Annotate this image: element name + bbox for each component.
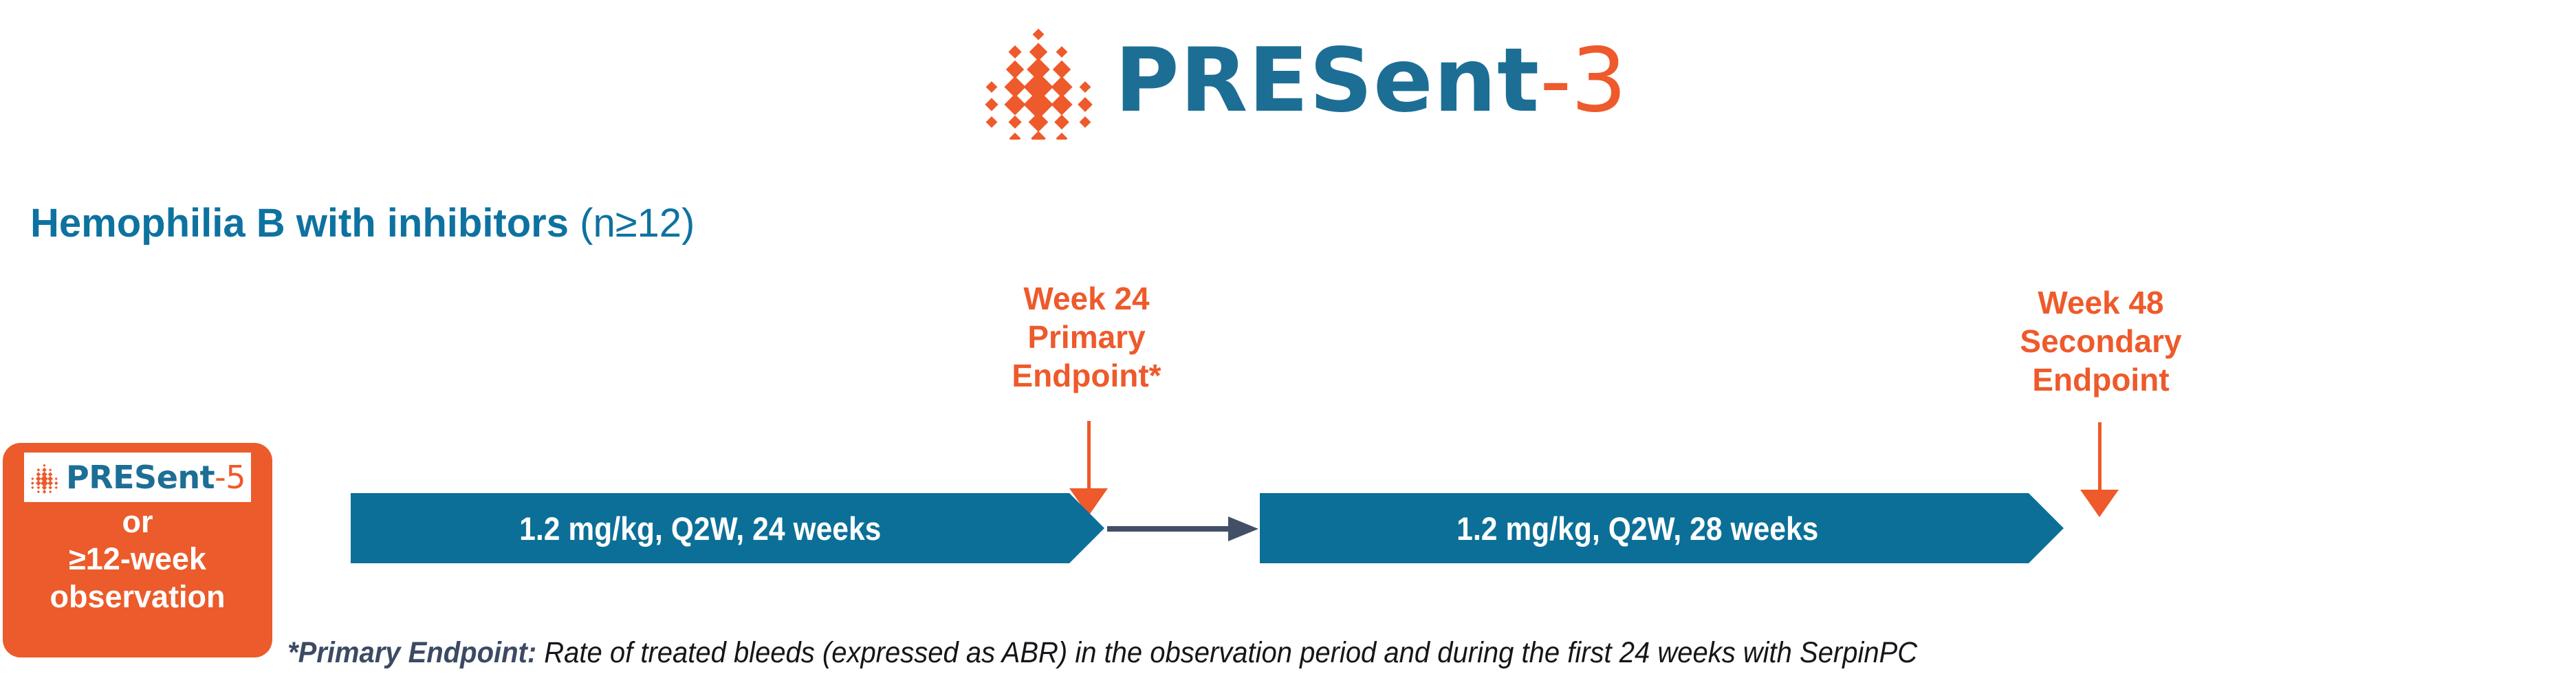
logo-word-text: PRESent [1115,30,1540,132]
footnote-label: *Primary Endpoint: [287,636,536,669]
primary-endpoint-type: Primary [949,318,1224,356]
chevron-tip-icon [2029,493,2064,563]
cohort-count: (n≥12) [580,201,695,246]
treatment-period-2-label: 1.2 mg/kg, Q2W, 28 weeks [1456,510,1818,547]
present-5-word-text: PRESent [66,459,215,496]
secondary-endpoint-annotation: Week 48 Secondary Endpoint [1963,283,2238,399]
diamond-dot-grid-icon [30,458,59,497]
cohort-title: Hemophilia B with inhibitors [30,201,569,246]
treatment-period-1-label: 1.2 mg/kg, Q2W, 24 weeks [519,510,881,547]
footnote-body: Rate of treated bleeds (expressed as ABR… [536,636,1917,669]
secondary-endpoint-name: Endpoint [1963,360,2238,399]
primary-endpoint-name: Endpoint* [949,356,1224,395]
period-connector-right-arrow-icon [1107,523,1258,535]
logo-wordmark: PRESent-3 [1115,37,1626,125]
treatment-period-1-bar: 1.2 mg/kg, Q2W, 24 weeks [351,493,1069,563]
observation-period-box: PRESent-5 or ≥12-week observation [3,443,272,657]
primary-endpoint-down-arrow-icon [1069,421,1108,490]
study-design-diagram: PRESent-3 Hemophilia B with inhibitors (… [0,0,2576,696]
present-3-logo: PRESent-3 [980,19,1626,143]
primary-endpoint-week: Week 24 [949,279,1224,318]
secondary-endpoint-down-arrow-icon [2080,422,2119,491]
cohort-heading: Hemophilia B with inhibitors (n≥12) [30,204,695,243]
observation-or-label: or [122,505,153,539]
observation-label: observation [50,580,225,614]
primary-endpoint-annotation: Week 24 Primary Endpoint* [949,279,1224,395]
observation-duration-label: ≥12-week [69,542,206,576]
present-5-suffix-text: -5 [215,459,245,496]
present-5-logo: PRESent-5 [24,453,251,502]
secondary-endpoint-type: Secondary [1963,322,2238,360]
secondary-endpoint-week: Week 48 [1963,283,2238,322]
diamond-dot-grid-icon [980,23,1097,140]
primary-endpoint-footnote: *Primary Endpoint: Rate of treated bleed… [287,638,1917,668]
chevron-tip-icon [1069,493,1104,563]
treatment-period-2-bar: 1.2 mg/kg, Q2W, 28 weeks [1260,493,2029,563]
logo-suffix-text: -3 [1540,30,1626,132]
present-5-wordmark: PRESent-5 [66,461,245,493]
